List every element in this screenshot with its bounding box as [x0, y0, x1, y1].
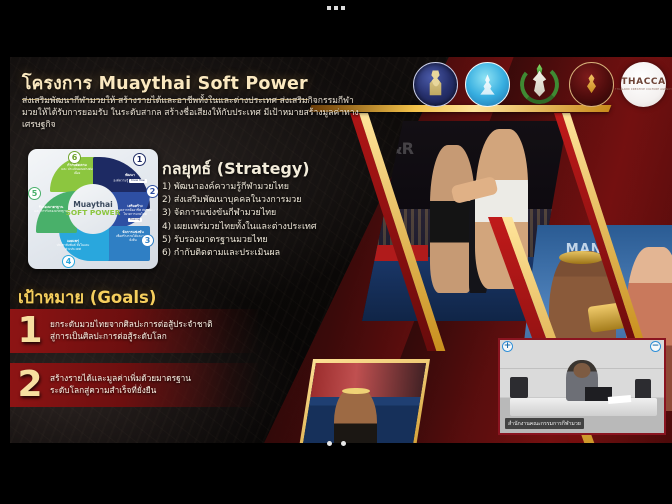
chair-right — [635, 379, 651, 399]
puzzle-caption-1-sub: องค์ความรู้ — [113, 178, 128, 182]
thacca-logo-icon: THACCA THAILAND CREATIVE CULTURE AGENCY — [621, 62, 666, 107]
participant-video-thumbnail[interactable]: สำนักงานคณะกรรมการกีฬามวย — [498, 338, 666, 435]
puzzle-badge-2: 2 — [146, 185, 158, 198]
puzzle-badge-4: 4 — [62, 255, 75, 268]
puzzle-badge-5: 5 — [28, 187, 41, 200]
zoom-in-button[interactable]: + — [502, 341, 513, 352]
bottom-page-indicator[interactable] — [0, 441, 672, 446]
puzzle-caption-1-tag: Know How — [129, 179, 147, 183]
puzzle-caption-1: พัฒนา องค์ความรู้ Know How — [111, 173, 149, 183]
puzzle-caption-1-title: พัฒนา — [111, 173, 149, 177]
strategy-item: 6) กำกับติดตามและประเมินผล — [162, 247, 317, 260]
logo-row: THACCA THAILAND CREATIVE CULTURE AGENCY — [413, 62, 666, 107]
puzzle-caption-4-sub: ประชาสัมพันธ์ ทั้งในและต่างประเทศ — [57, 243, 90, 251]
goal-item: 2 สร้างรายได้และมูลค่าเพิ่มด้วยมาตรฐาน ร… — [10, 363, 258, 407]
goals-heading: เป้าหมาย (Goals) — [18, 285, 156, 311]
puzzle-caption-2: เสริมสร้าง บุคลากรมืออาชีพ สมาคม ในวงการ… — [116, 204, 154, 222]
strategy-item: 1) พัฒนาองค์ความรู้กีฬามวยไทย — [162, 181, 317, 194]
strategy-item: 5) รับรองมาตรฐานมวยไทย — [162, 234, 317, 247]
indicator-dot — [334, 6, 338, 10]
goal-number: 1 — [10, 313, 50, 349]
puzzle-center-line2: SOFT POWER — [63, 209, 123, 217]
strategy-item: 4) เผยแพร่มวยไทยทั้งในและต่างประเทศ — [162, 221, 317, 234]
garuda-wreath-emblem-icon — [517, 62, 562, 107]
puzzle-caption-4: เผยแพร่ ประชาสัมพันธ์ ทั้งในและต่างประเท… — [54, 239, 92, 252]
goal-number: 2 — [10, 367, 50, 403]
puzzle-center-label: Muaythai SOFT POWER — [63, 201, 123, 217]
indicator-dot — [327, 6, 331, 10]
thacca-wordmark: THACCA — [621, 78, 665, 87]
strategy-list: 1) พัฒนาองค์ความรู้กีฬามวยไทย 2) ส่งเสริ… — [162, 181, 317, 260]
puzzle-caption-6-sub: และ ประเมินผลอย่างต่อเนื่อง — [61, 167, 93, 175]
chair-left — [510, 377, 528, 397]
goal-text: สร้างรายได้และมูลค่าเพิ่มด้วยมาตรฐาน ระด… — [50, 373, 191, 397]
royal-thai-government-seal-icon — [413, 62, 458, 107]
wai-khru-figure — [334, 388, 378, 443]
goal-text-line2: สู่การเป็นศิลปะการต่อสู้ระดับโลก — [50, 331, 213, 343]
ministry-seal-cyan-icon — [465, 62, 510, 107]
puzzle-caption-5: รับรองมาตรฐาน และ การรับรองมาตรฐาน — [32, 205, 70, 214]
indicator-dot[interactable] — [341, 441, 346, 446]
mongkhon-headband — [559, 251, 604, 264]
goal-item: 1 ยกระดับมวยไทยจากศิลปะการต่อสู้ประจำชาต… — [10, 309, 258, 353]
puzzle-caption-5-sub: และ การรับรองมาตรฐาน — [34, 209, 67, 213]
wai-khru-ram-muay-photo — [298, 363, 426, 443]
puzzle-caption-2-sub: บุคลากรมืออาชีพ สมาคม ในวงการมวยไทย — [118, 208, 152, 216]
thacca-tagline: THAILAND CREATIVE CULTURE AGENCY — [615, 88, 672, 91]
strategy-item: 2) ส่งเสริมพัฒนาบุคคลในวงการมวย — [162, 194, 317, 207]
screen-share-viewer: THACCA THAILAND CREATIVE CULTURE AGENCY … — [0, 0, 672, 504]
top-page-indicator — [0, 6, 672, 10]
puzzle-badge-6: 6 — [68, 151, 81, 164]
indicator-dot — [341, 6, 345, 10]
participant-name-label: สำนักงานคณะกรรมการกีฬามวย — [505, 418, 584, 429]
fighter-a-figure — [430, 145, 475, 293]
goal-text-line2: ระดับโลกสู่ความสำเร็จที่ยั่งยืน — [50, 385, 191, 397]
event-watermark: &R — [389, 139, 413, 158]
puzzle-badge-1: 1 — [133, 153, 146, 166]
puzzle-badge-3: 3 — [141, 234, 154, 247]
strategy-item: 3) จัดการแข่งขันกีฬามวยไทย — [162, 207, 317, 220]
goal-text: ยกระดับมวยไทยจากศิลปะการต่อสู้ประจำชาติ … — [50, 319, 213, 343]
zoom-out-button[interactable]: − — [650, 341, 661, 352]
puzzle-caption-6: กำกับติดตาม และ ประเมินผลอย่างต่อเนื่อง — [58, 163, 96, 176]
goal-text-line1: สร้างรายได้และมูลค่าเพิ่มด้วยมาตรฐาน — [50, 373, 191, 385]
indicator-dot[interactable] — [327, 441, 332, 446]
puzzle-caption-2-tag: Training — [128, 218, 142, 222]
soft-power-puzzle-diagram: Muaythai SOFT POWER พัฒนา องค์ความรู้ Kn… — [28, 149, 158, 269]
goal-text-line1: ยกระดับมวยไทยจากศิลปะการต่อสู้ประจำชาติ — [50, 319, 213, 331]
strategy-heading: กลยุทธ์ (Strategy) — [162, 157, 310, 182]
project-description: ส่งเสริมพัฒนากีฬามวยให้ สร้างรายได้และอา… — [22, 95, 360, 132]
boxing-commission-seal-maroon-icon — [569, 62, 614, 107]
